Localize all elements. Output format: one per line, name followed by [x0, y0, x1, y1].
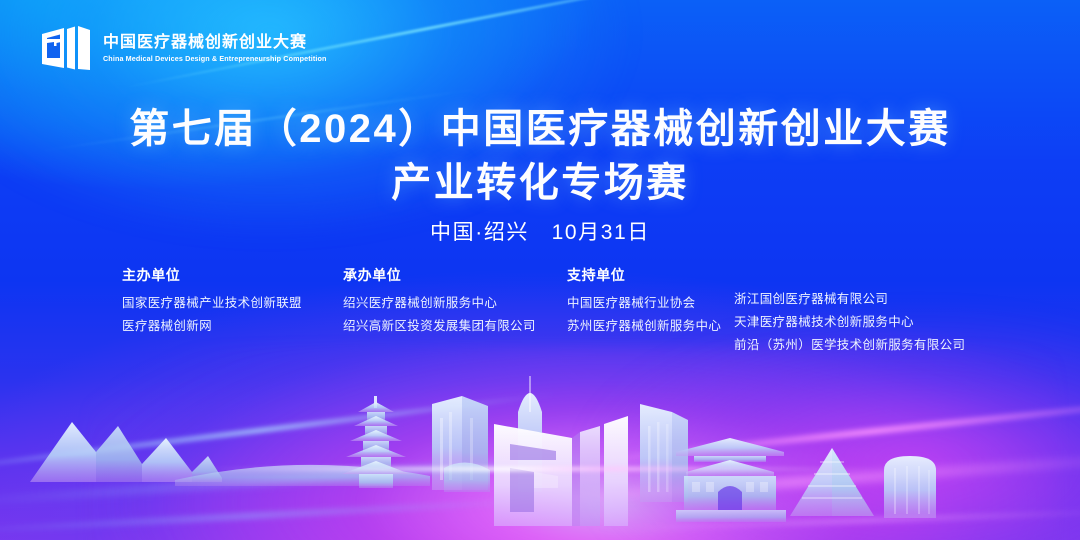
organizer-column-undertaker: 承办单位 绍兴医疗器械创新服务中心 绍兴高新区投资发展集团有限公司	[343, 266, 536, 338]
brand-text: 中国医疗器械创新创业大赛 China Medical Devices Desig…	[103, 32, 327, 64]
organizer-column-support: 支持单位 中国医疗器械行业协会 苏州医疗器械创新服务中心	[567, 266, 721, 338]
event-title: 第七届（2024）中国医疗器械创新创业大赛 产业转化专场赛	[0, 104, 1080, 208]
organizer-item: 苏州医疗器械创新服务中心	[567, 315, 721, 338]
open-book-emblem-icon	[40, 24, 92, 72]
organizer-item: 前沿（苏州）医学技术创新服务有限公司	[734, 334, 965, 357]
round-building-icon	[884, 456, 936, 518]
stepped-pyramid-icon	[790, 448, 874, 516]
angular-peaks-icon	[30, 422, 222, 482]
organizer-heading: 支持单位	[567, 266, 721, 284]
twin-tower-icon	[432, 396, 490, 492]
organizer-column-support-extra: 浙江国创医疗器械有限公司 天津医疗器械技术创新服务中心 前沿（苏州）医学技术创新…	[734, 288, 965, 357]
event-location-date: 中国·绍兴 10月31日	[0, 216, 1080, 246]
organizer-heading: 主办单位	[122, 266, 302, 284]
organizer-item: 绍兴高新区投资发展集团有限公司	[343, 315, 536, 338]
brand-name-cn: 中国医疗器械创新创业大赛	[103, 34, 327, 52]
poster-canvas: 中国医疗器械创新创业大赛 China Medical Devices Desig…	[0, 0, 1080, 540]
organizer-item: 天津医疗器械技术创新服务中心	[734, 311, 965, 334]
title-line-1: 第七届（2024）中国医疗器械创新创业大赛	[0, 104, 1080, 154]
organizer-item: 浙江国创医疗器械有限公司	[734, 288, 965, 311]
title-line-2: 产业转化专场赛	[0, 158, 1080, 208]
city-gate-icon	[676, 438, 786, 522]
organizer-item: 绍兴医疗器械创新服务中心	[343, 292, 536, 315]
emblem-monument-icon	[492, 416, 628, 526]
city-skyline-illustration	[0, 360, 1080, 540]
organizer-heading: 承办单位	[343, 266, 536, 284]
organizer-item: 医疗器械创新网	[122, 315, 302, 338]
brand-logo[interactable]: 中国医疗器械创新创业大赛 China Medical Devices Desig…	[40, 24, 327, 72]
organizer-column-host: 主办单位 国家医疗器械产业技术创新联盟 医疗器械创新网	[122, 266, 302, 338]
organizer-item: 中国医疗器械行业协会	[567, 292, 721, 315]
organizer-item: 国家医疗器械产业技术创新联盟	[122, 292, 302, 315]
brand-name-en: China Medical Devices Design & Entrepren…	[103, 54, 327, 64]
organizer-sections: 主办单位 国家医疗器械产业技术创新联盟 医疗器械创新网 承办单位 绍兴医疗器械创…	[0, 266, 1080, 366]
